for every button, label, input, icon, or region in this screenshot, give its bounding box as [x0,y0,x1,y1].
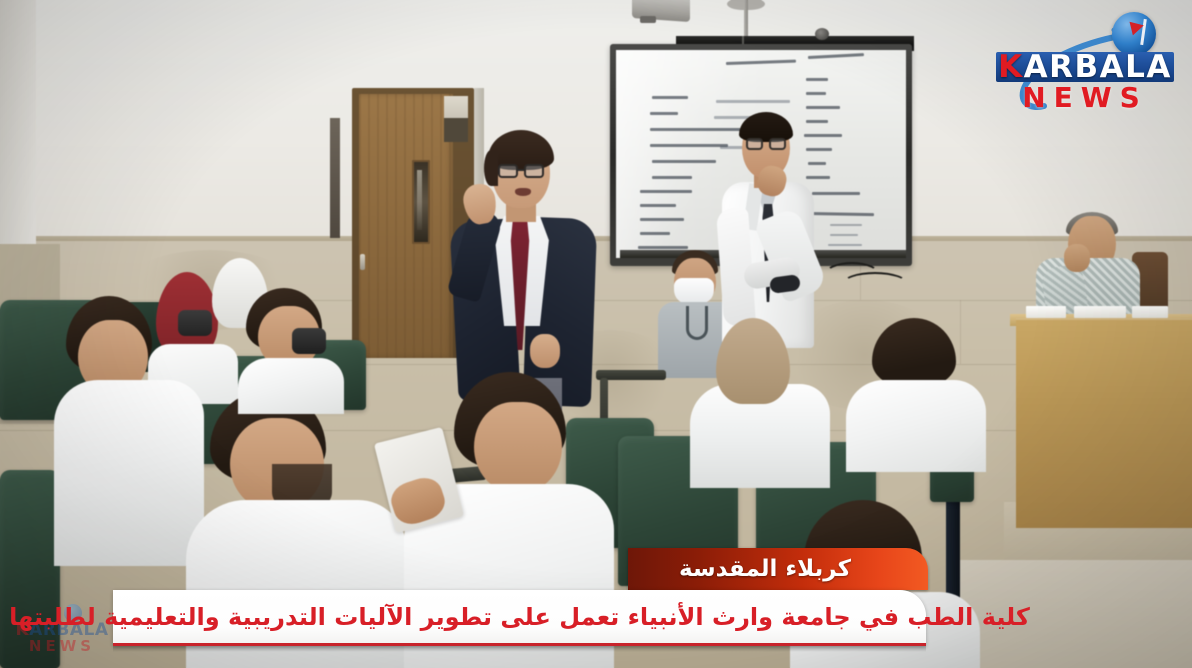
hijab [716,318,790,404]
glasses-lens-right [524,164,544,178]
projector-mount-pole [744,0,748,40]
board-scribble [640,218,684,221]
lab-coat [54,380,204,566]
teacher-hand [1064,244,1090,272]
glasses-lens-right [769,138,786,150]
desk-papers [1026,306,1066,318]
board-scribble [806,92,826,95]
board-scribble [652,96,688,99]
wall-cable [842,272,908,296]
board-scribble [652,160,716,163]
lower-third: كربلاء المقدسة كلية الطب في جامعة وارث ا… [0,548,1192,668]
board-scribble [716,100,790,103]
glasses-lens-left [746,138,763,150]
glasses-lens-left [498,164,518,178]
board-scribble [652,176,692,179]
presenter-lower-hand [530,334,560,368]
person-student-left [54,296,204,566]
wall-trim-left [330,118,340,238]
door-handle[interactable] [360,254,365,270]
lab-coat [238,358,344,414]
person-standing-student [710,108,830,348]
board-scribble [640,204,676,207]
location-banner: كربلاء المقدسة [628,548,928,590]
face-mask-icon [674,278,714,304]
student-head [474,402,562,492]
desk-papers [1132,306,1168,318]
board-scribble [638,246,688,249]
face-mask-icon [292,328,326,354]
broadcast-frame: KARBALA NEWS KARBALA NEWS كربلاء المقدسة… [0,0,1192,668]
board-scribble [650,112,678,115]
board-scribble [830,224,862,226]
board-scribble [830,234,858,236]
board-scribble [828,244,862,246]
headline-text: كلية الطب في جامعة وارث الأنبياء تعمل عل… [0,603,1048,631]
headline-bar: كلية الطب في جامعة وارث الأنبياء تعمل عل… [113,590,926,646]
projector-lens [640,16,656,23]
eyeglasses-icon [746,138,788,150]
board-scribble [640,232,670,235]
desk-papers [1074,306,1126,318]
lab-coat [846,380,986,472]
location-text: كربلاء المقدسة [679,556,877,582]
board-scribble [808,53,864,59]
door-vision-glare [417,170,422,230]
board-scribble [806,78,828,81]
teacher-desk [1016,318,1192,528]
presenter-mouth [515,188,531,196]
person-student-right-row [846,318,986,458]
headline-bar-shadow [113,646,926,652]
person-student-hijab-beige [690,318,830,488]
student-hair [872,318,956,386]
presenter-hair-side [484,150,498,186]
board-scribble [640,190,692,193]
person-student-masked-profile [238,288,344,414]
rail-knob [815,28,829,40]
eyeglasses-icon [498,164,546,178]
